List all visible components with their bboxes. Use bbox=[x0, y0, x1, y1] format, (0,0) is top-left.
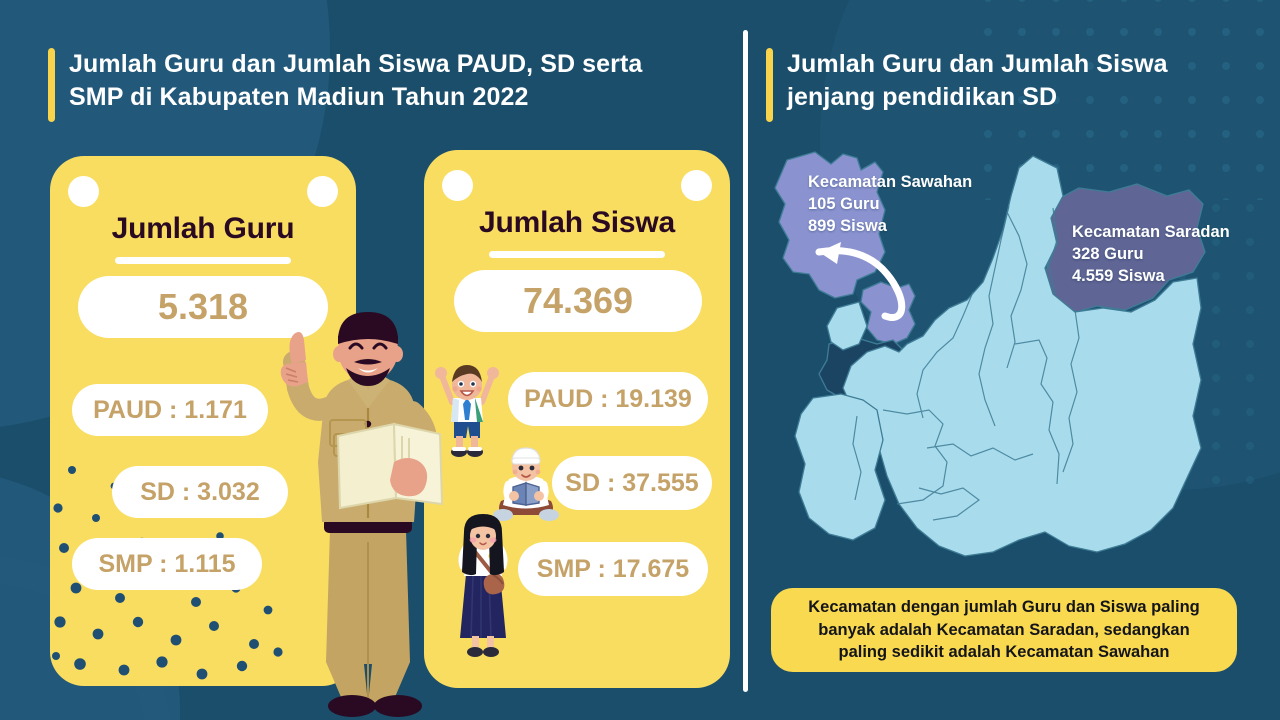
breakdown-pill-sd: SD : 37.555 bbox=[552, 456, 712, 510]
card-punch-hole-right bbox=[681, 170, 712, 201]
map-label-sawahan: Kecamatan Sawahan 105 Guru 899 Siswa bbox=[808, 172, 972, 237]
student-girl-illustration bbox=[452, 512, 514, 660]
card-title: Jumlah Guru bbox=[50, 212, 356, 246]
title-accent-bar bbox=[48, 48, 55, 122]
breakdown-pill-smp: SMP : 17.675 bbox=[518, 542, 708, 596]
map-label-saradan: Kecamatan Saradan 328 Guru 4.559 Siswa bbox=[1072, 222, 1230, 287]
breakdown-pill-paud: PAUD : 1.171 bbox=[72, 384, 268, 436]
breakdown-pill-smp: SMP : 1.115 bbox=[72, 538, 262, 590]
card-punch-hole-left bbox=[68, 176, 99, 207]
map-summary-callout: Kecamatan dengan jumlah Guru dan Siswa p… bbox=[771, 588, 1237, 672]
panel-divider bbox=[743, 30, 748, 692]
breakdown-pill-sd: SD : 3.032 bbox=[112, 466, 288, 518]
right-title-text: Jumlah Guru dan Jumlah Siswa jenjang pen… bbox=[787, 48, 1168, 115]
card-punch-hole-right bbox=[307, 176, 338, 207]
left-title-text: Jumlah Guru dan Jumlah Siswa PAUD, SD se… bbox=[69, 48, 642, 115]
right-panel-title: Jumlah Guru dan Jumlah Siswa jenjang pen… bbox=[766, 48, 1168, 126]
infographic-canvas: Jumlah Guru dan Jumlah Siswa PAUD, SD se… bbox=[0, 0, 1280, 720]
callout-text: Kecamatan dengan jumlah Guru dan Siswa p… bbox=[808, 596, 1200, 664]
breakdown-pill-paud: PAUD : 19.139 bbox=[508, 372, 708, 426]
card-title-underline bbox=[115, 257, 291, 264]
map-region-sawahan[interactable] bbox=[861, 282, 915, 344]
title-accent-bar bbox=[766, 48, 773, 122]
total-pill: 74.369 bbox=[454, 270, 702, 332]
card-title: Jumlah Siswa bbox=[424, 206, 730, 240]
left-panel-title: Jumlah Guru dan Jumlah Siswa PAUD, SD se… bbox=[48, 48, 642, 126]
card-punch-hole-left bbox=[442, 170, 473, 201]
map-region-southwest[interactable] bbox=[795, 394, 885, 540]
card-title-underline bbox=[489, 251, 665, 258]
